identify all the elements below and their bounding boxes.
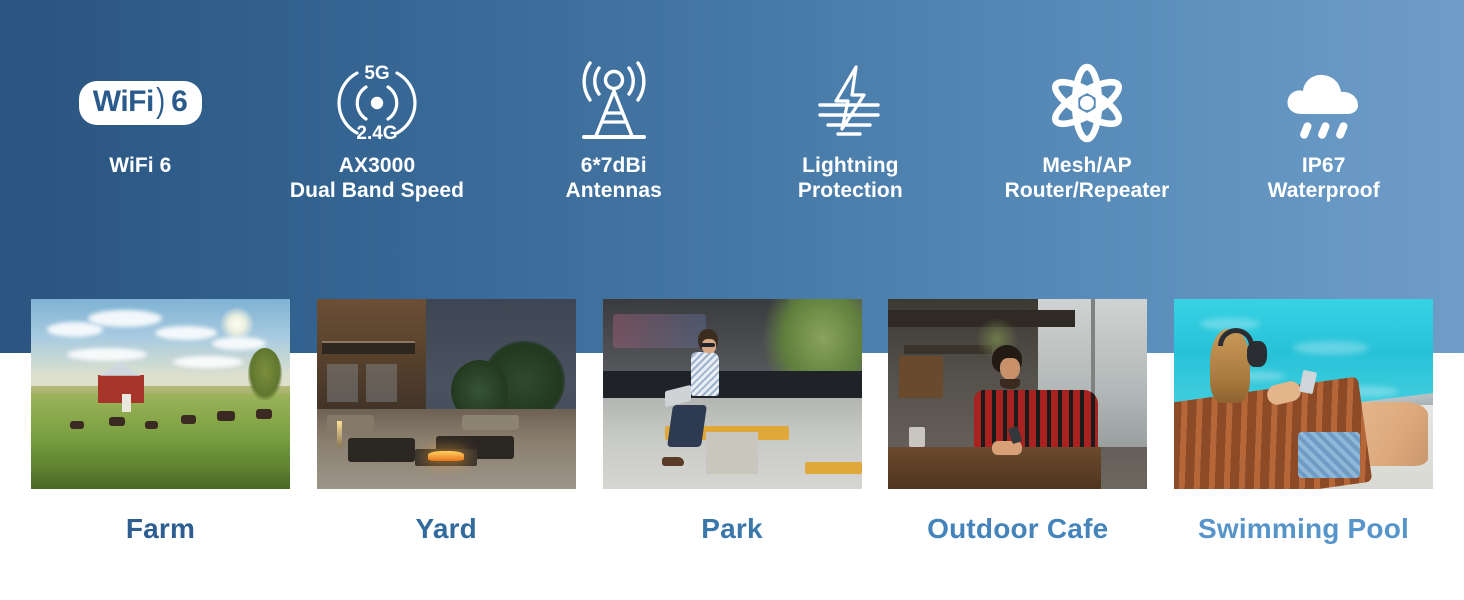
rain-cloud-icon [1278,58,1370,148]
feature-mesh: Mesh/AP Router/Repeater [969,58,1206,203]
feature-dual-band: 5G 2.4G AX3000 Dual Band Speed [259,58,496,203]
mesh-atom-icon [1044,58,1130,148]
feature-lightning: Lightning Protection [732,58,969,203]
feature-waterproof: IP67 Waterproof [1205,58,1442,203]
band-5g-text: 5G [364,63,389,84]
dual-band-signal-icon: 5G 2.4G [331,58,423,148]
scene-photo-park [603,299,862,489]
scene-caption-cafe: Outdoor Cafe [888,515,1147,575]
antenna-tower-icon [570,58,658,148]
scene-caption-yard: Yard [317,515,576,575]
scene-caption-pool: Swimming Pool [1174,515,1433,575]
feature-label: IP67 Waterproof [1268,154,1380,203]
scene-photo-strip [0,299,1464,489]
band-24g-text: 2.4G [356,123,397,144]
scene-photo-farm [31,299,290,489]
feature-list: WiFi ) 6 WiFi 6 5G 2.4G [0,58,1464,248]
wifi6-arc-glyph: ) [156,84,165,118]
scene-caption-park: Park [603,515,862,575]
lightning-ground-icon [808,58,892,148]
wifi6-brand-text: WiFi [93,87,154,117]
wifi6-badge-icon: WiFi ) 6 [79,58,202,148]
feature-label: 6*7dBi Antennas [565,154,661,203]
scene-caption-farm: Farm [31,515,290,575]
scene-photo-pool [1174,299,1433,489]
feature-label: AX3000 Dual Band Speed [290,154,464,203]
feature-label: WiFi 6 [109,154,171,179]
feature-wifi6: WiFi ) 6 WiFi 6 [22,58,259,179]
scene-photo-yard [317,299,576,489]
wifi6-number-text: 6 [171,87,188,117]
feature-antennas: 6*7dBi Antennas [495,58,732,203]
scene-photo-cafe [888,299,1147,489]
promo-banner-page: WiFi ) 6 WiFi 6 5G 2.4G [0,0,1464,600]
scene-caption-row: Farm Yard Park Outdoor Cafe Swimming Poo… [0,515,1464,575]
feature-label: Lightning Protection [798,154,903,203]
feature-label: Mesh/AP Router/Repeater [1005,154,1170,203]
